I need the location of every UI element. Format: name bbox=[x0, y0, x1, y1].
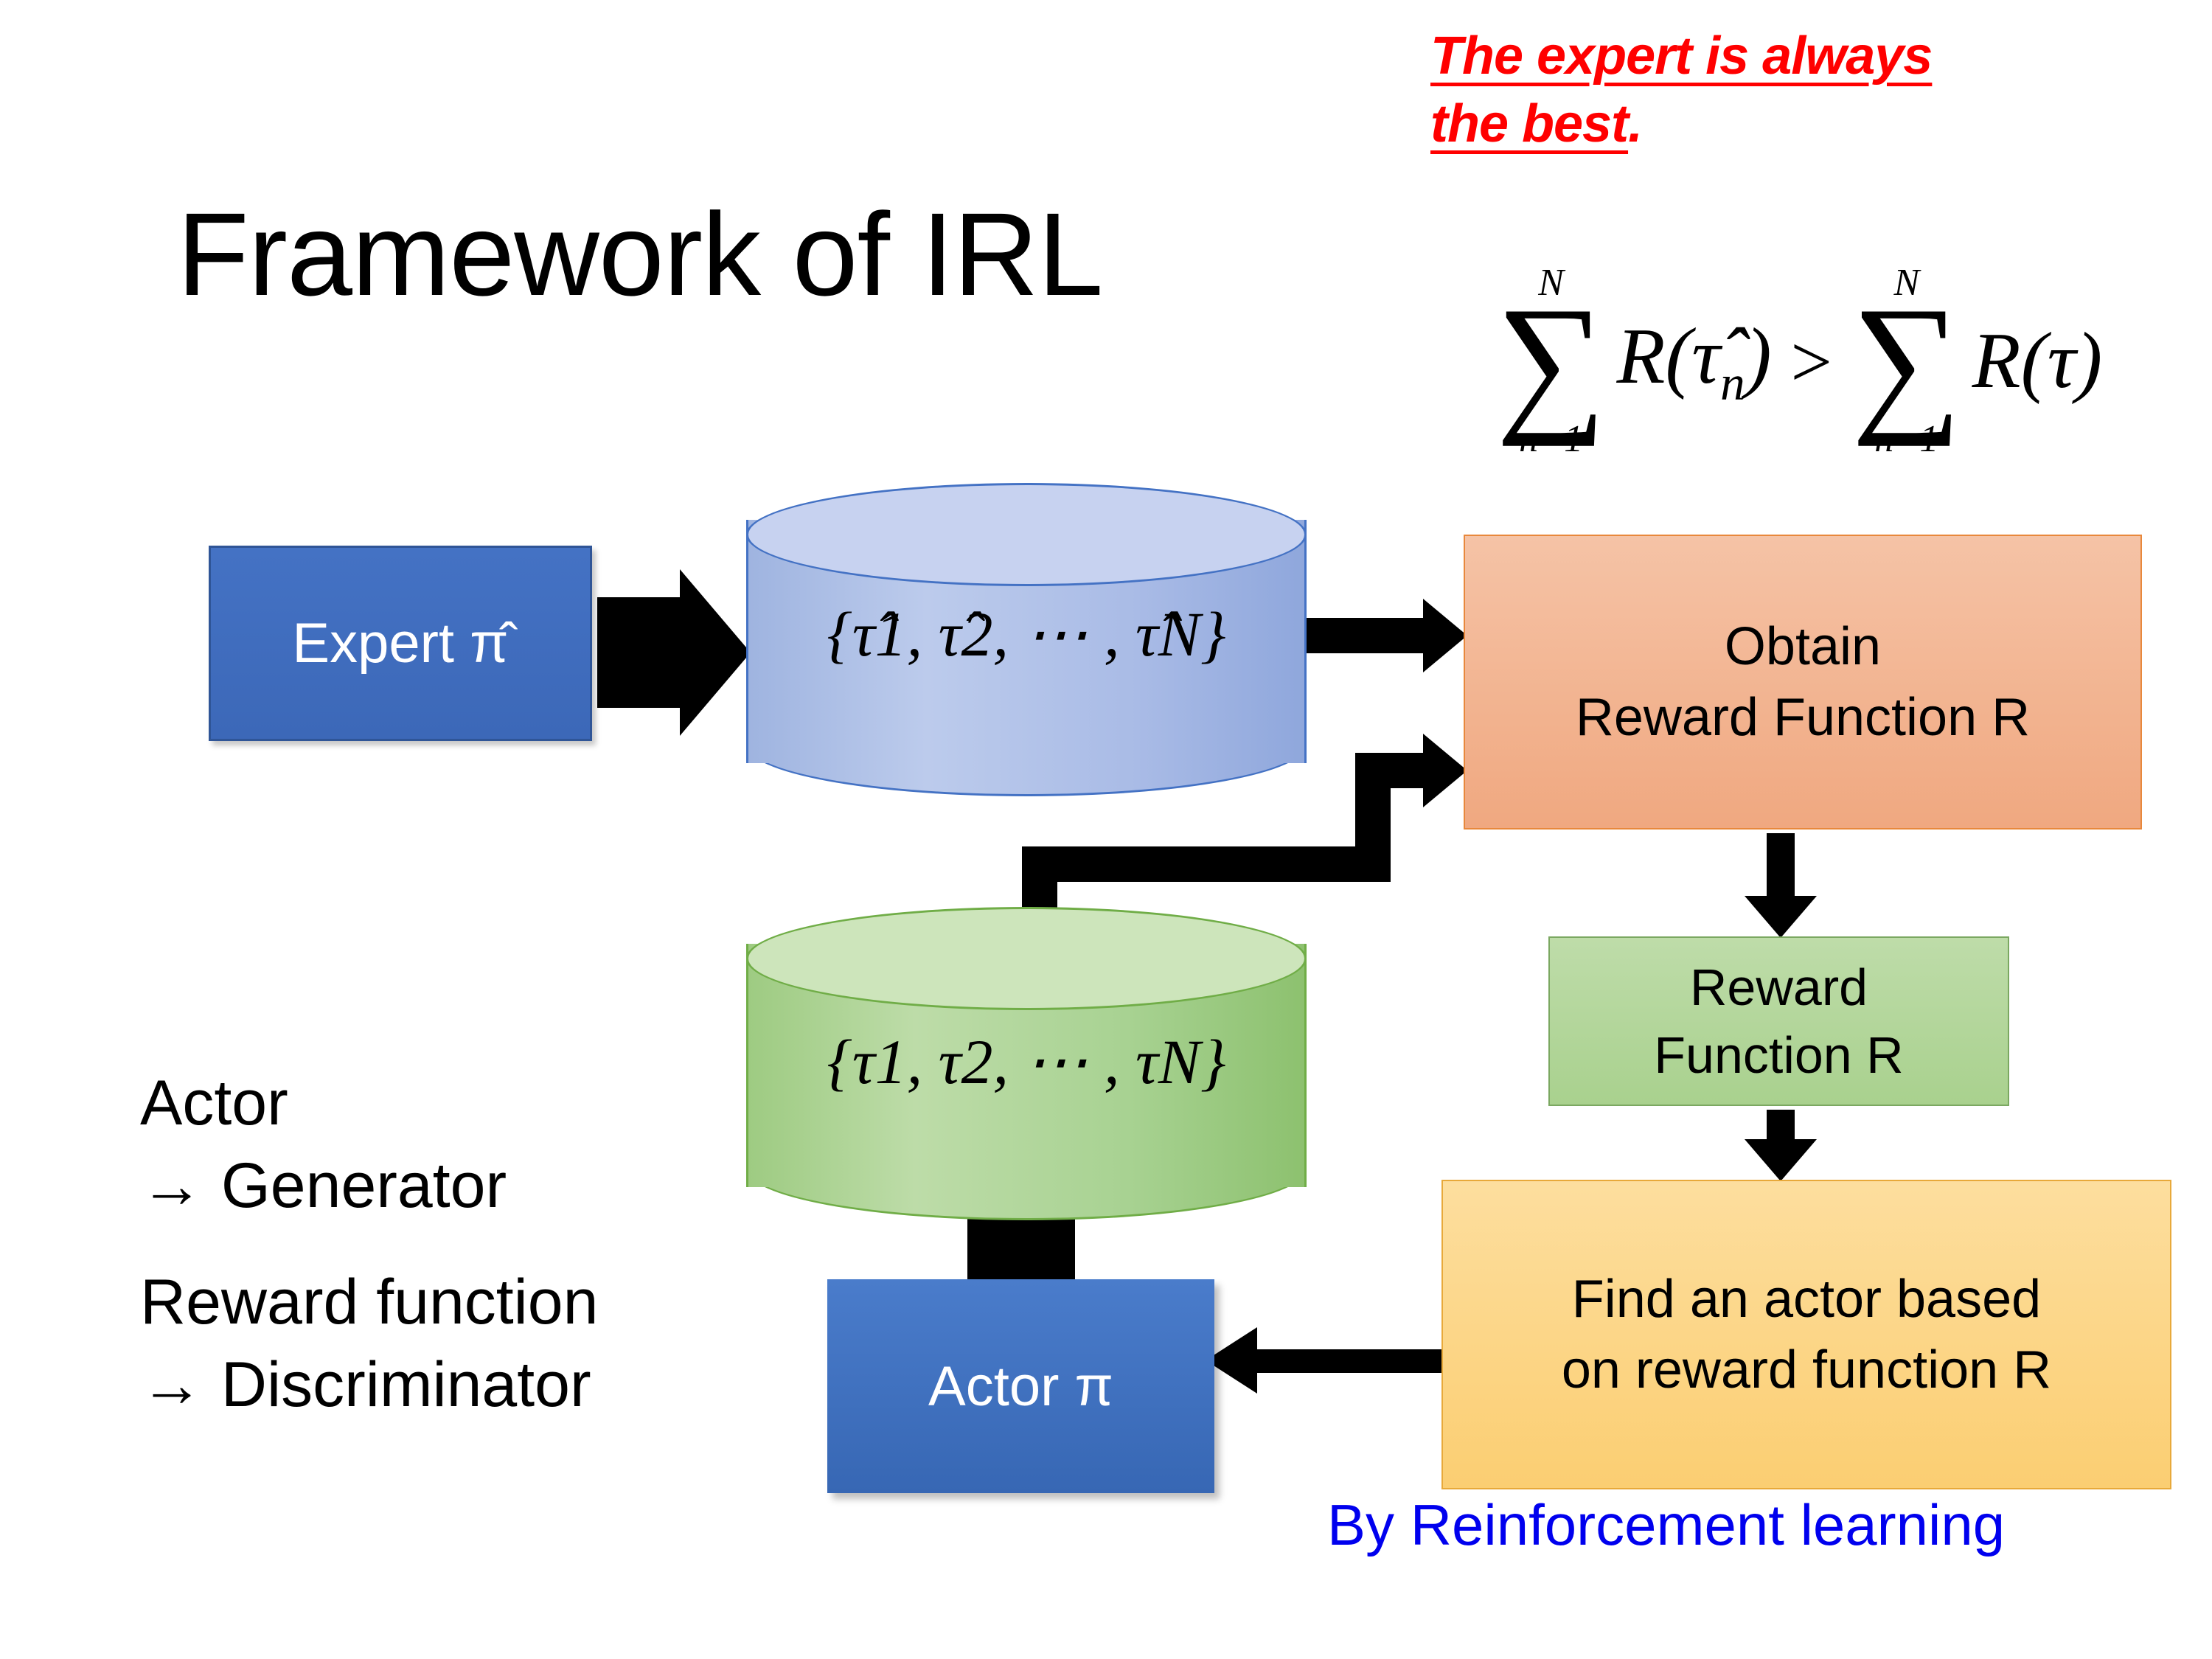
reward-function-line-2: Function R bbox=[1654, 1021, 1903, 1089]
note-reward-label: Reward function bbox=[140, 1261, 789, 1343]
expert-trajectories-cylinder[interactable]: {τ̂1, τ̂2, ⋯ , τ̂N} bbox=[746, 483, 1307, 796]
note-actor-label: Actor bbox=[140, 1062, 789, 1144]
reward-function-line-1: Reward bbox=[1654, 953, 1903, 1021]
expert-trajectories-label: {τ̂1, τ̂2, ⋯ , τ̂N} bbox=[746, 597, 1307, 671]
cylinder-top-actor bbox=[746, 907, 1307, 1010]
arrow-trajectories-to-obtain bbox=[1283, 599, 1467, 672]
formula-left-sum: N ∑ n=1 R(τ̂n) bbox=[1496, 264, 1772, 459]
expert-note-period: . bbox=[1628, 94, 1642, 153]
expert-note: The expert is always the best. bbox=[1430, 22, 2168, 158]
actor-trajectories-cylinder[interactable]: {τ1, τ2, ⋯ , τN} bbox=[746, 907, 1307, 1220]
expert-policy-box[interactable]: Expert π̂ bbox=[209, 546, 592, 741]
sigma-glyph-right: ∑ bbox=[1851, 298, 1962, 425]
sum-lower-limit-right: n=1 bbox=[1874, 420, 1938, 459]
cylinder-top-expert bbox=[746, 483, 1307, 586]
expert-policy-label: Expert π̂ bbox=[292, 611, 508, 675]
formula-left-subscript: n bbox=[1720, 355, 1745, 410]
formula-left-paren: ) bbox=[1745, 313, 1772, 400]
page-title: Framework of IRL bbox=[177, 177, 1224, 332]
arrow-find-actor-to-actor bbox=[1206, 1327, 1441, 1394]
arrow-reward-function-to-find-actor bbox=[1745, 1110, 1817, 1181]
actor-policy-label: Actor π bbox=[928, 1354, 1113, 1419]
summation-symbol-right: N ∑ n=1 bbox=[1851, 264, 1962, 459]
note-actor-mapping: → Generator bbox=[140, 1144, 789, 1227]
arrow-expert-to-trajectories bbox=[597, 569, 751, 736]
note-actor-group: Actor → Generator bbox=[140, 1062, 789, 1227]
formula-left-term: R(τ̂n) bbox=[1616, 311, 1771, 412]
obtain-reward-function-box[interactable]: Obtain Reward Function R bbox=[1464, 535, 2142, 829]
find-actor-box[interactable]: Find an actor based on reward function R bbox=[1441, 1180, 2171, 1489]
summation-symbol-left: N ∑ n=1 bbox=[1496, 264, 1607, 459]
formula-right-term: R(τ) bbox=[1972, 316, 2103, 407]
reward-function-box[interactable]: Reward Function R bbox=[1548, 936, 2009, 1106]
obtain-reward-line-1: Obtain bbox=[1576, 611, 2030, 682]
sigma-glyph-left: ∑ bbox=[1496, 298, 1607, 425]
reward-inequality-formula: N ∑ n=1 R(τ̂n) > N ∑ n=1 R(τ) bbox=[1401, 221, 2197, 501]
expert-note-line-1: The expert is always bbox=[1430, 22, 2168, 90]
formula-right-sum: N ∑ n=1 R(τ) bbox=[1851, 264, 2102, 459]
mapping-notes: Actor → Generator Reward function → Disc… bbox=[140, 1062, 789, 1460]
obtain-reward-line-2: Reward Function R bbox=[1576, 682, 2030, 753]
find-actor-line-2: on reward function R bbox=[1562, 1335, 2051, 1405]
expert-note-line-2: the best bbox=[1430, 94, 1628, 153]
sum-lower-limit-left: n=1 bbox=[1519, 420, 1583, 459]
actor-policy-box[interactable]: Actor π bbox=[827, 1279, 1214, 1493]
actor-trajectories-label: {τ1, τ2, ⋯ , τN} bbox=[746, 1025, 1307, 1099]
note-reward-mapping: → Discriminator bbox=[140, 1343, 789, 1426]
arrow-obtain-to-reward-function bbox=[1745, 833, 1817, 938]
note-reward-group: Reward function → Discriminator bbox=[140, 1261, 789, 1426]
greater-than-operator: > bbox=[1791, 319, 1832, 404]
formula-left-term-text: R(τ̂ bbox=[1616, 313, 1720, 400]
reinforcement-learning-caption: By Reinforcement learning bbox=[1327, 1489, 2183, 1560]
find-actor-line-1: Find an actor based bbox=[1562, 1264, 2051, 1335]
